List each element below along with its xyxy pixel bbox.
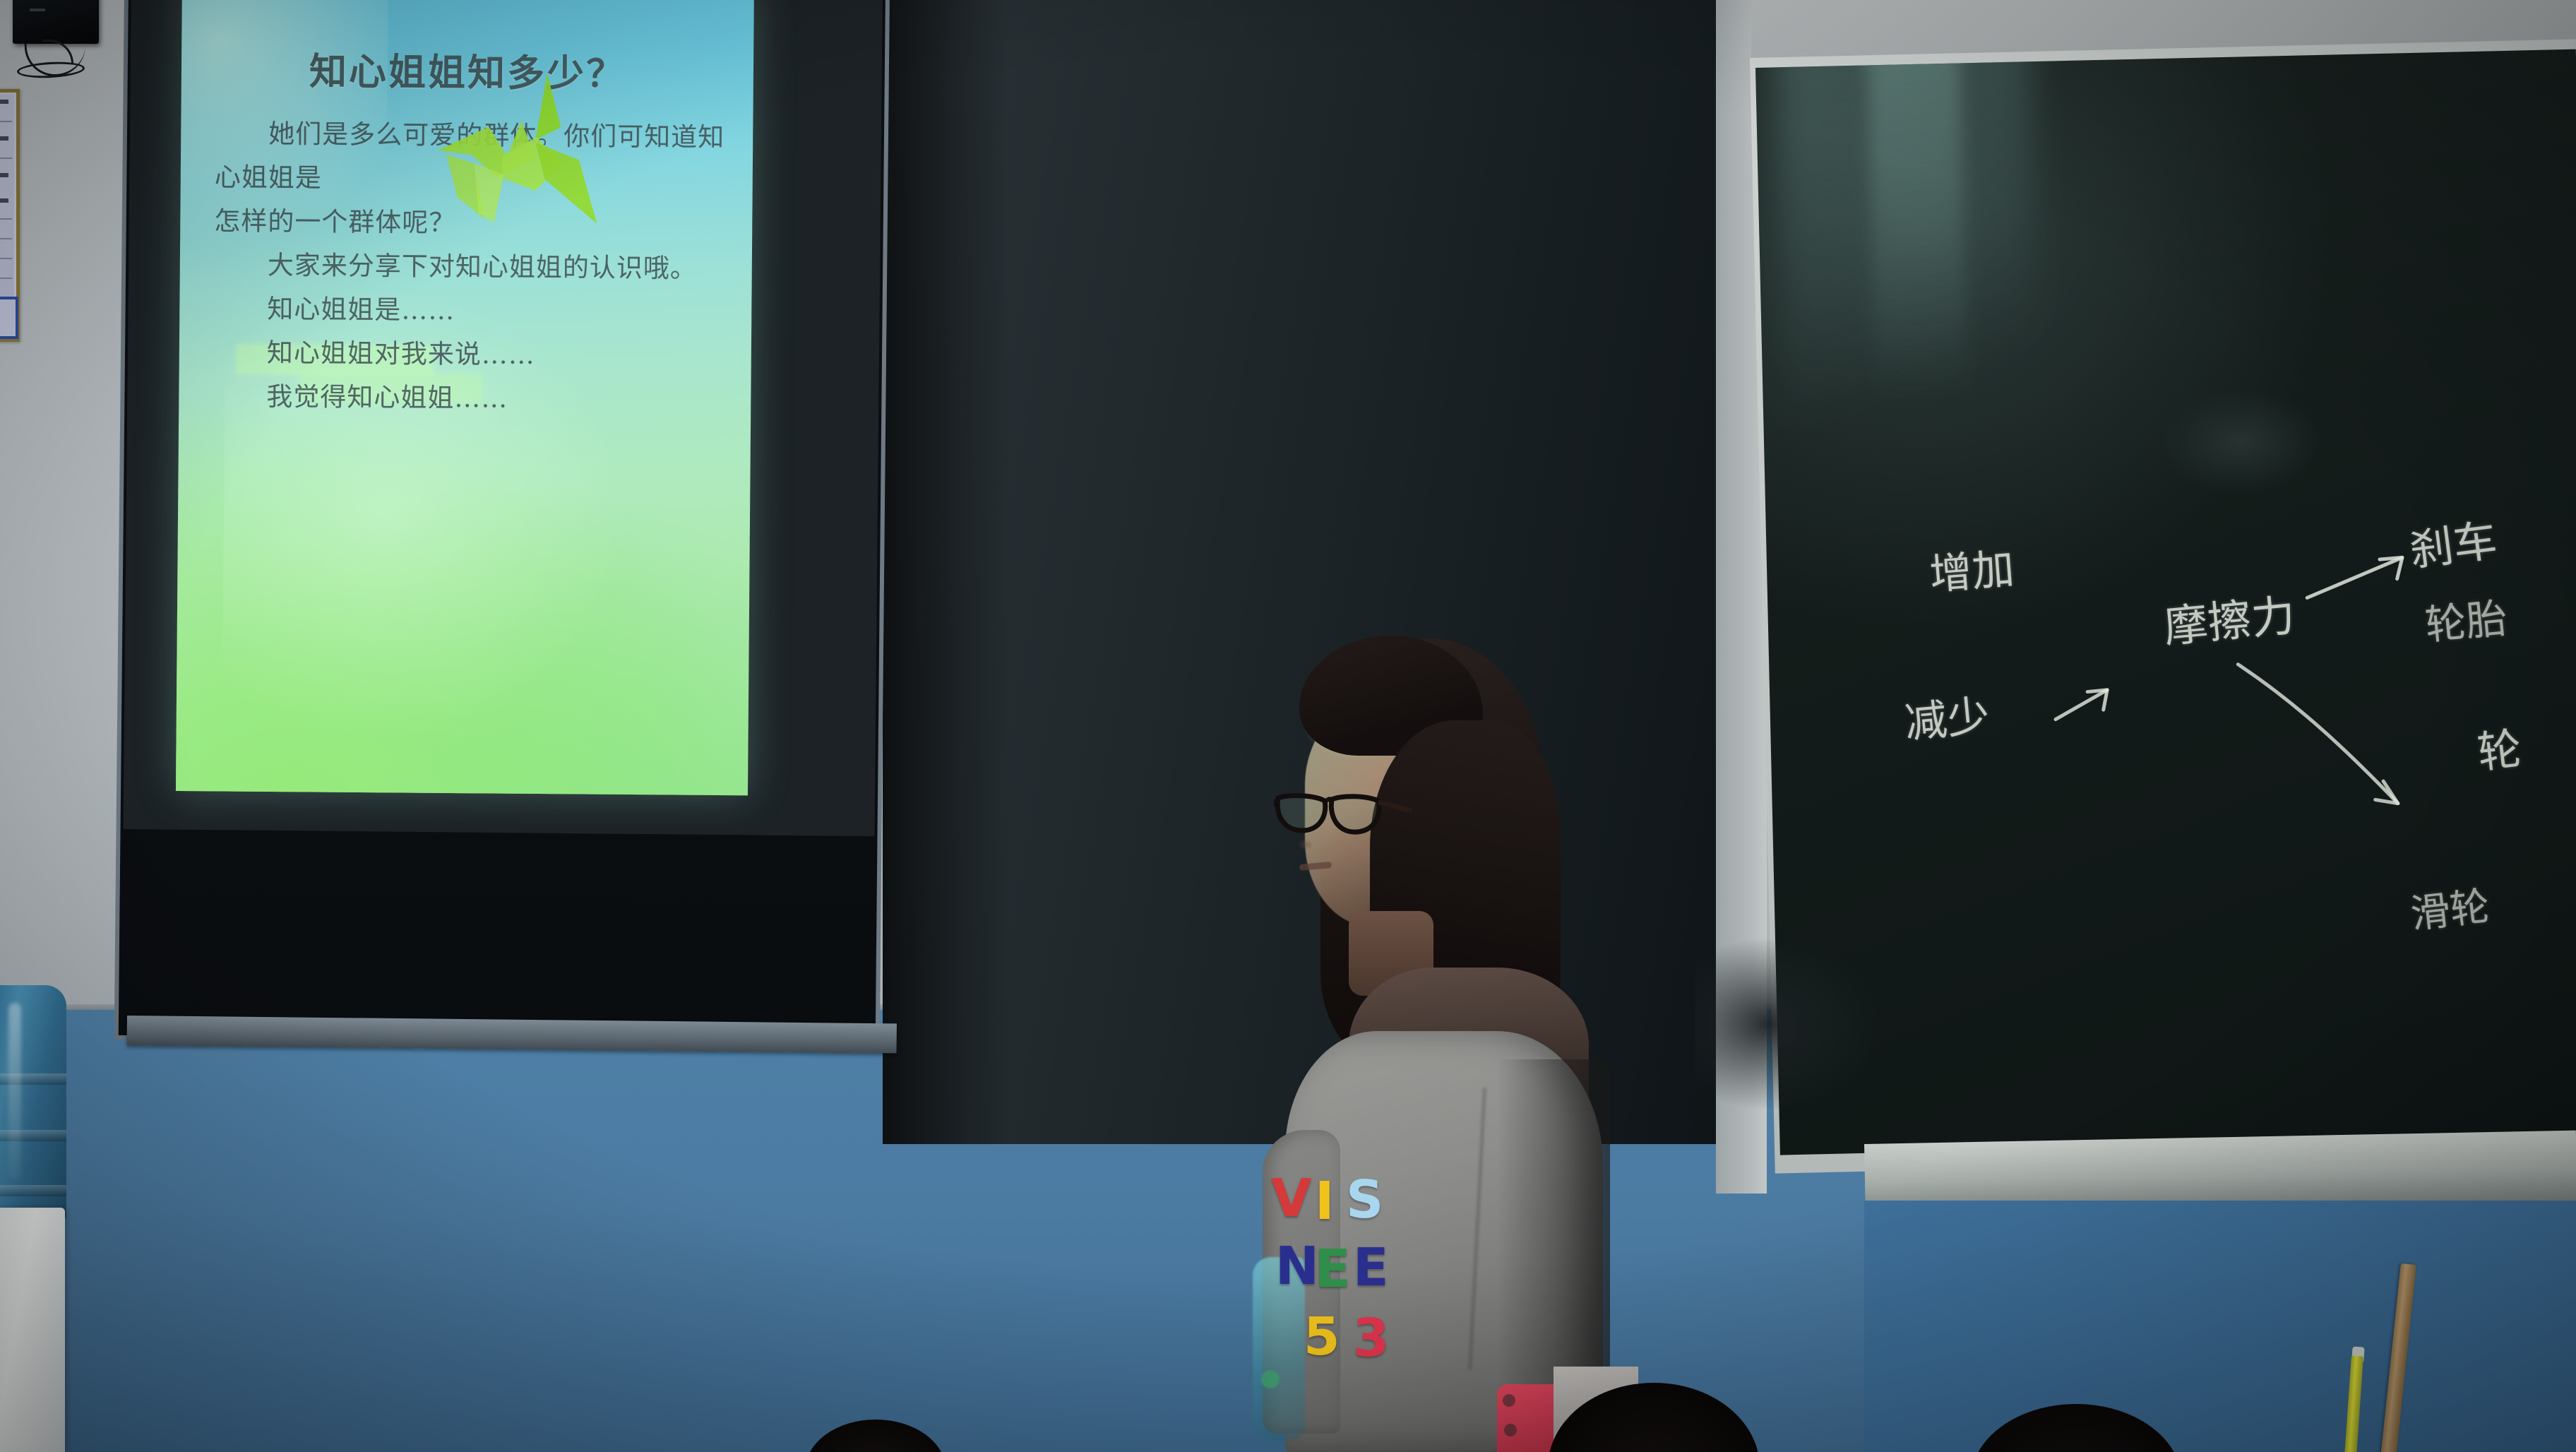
chalk-note-increase: 增加 <box>1927 535 2016 602</box>
notice-blue-panel <box>0 297 18 339</box>
hoodie-letter: E <box>1315 1243 1351 1295</box>
recess-shadow <box>883 0 1010 1144</box>
notice-text-line <box>0 258 12 259</box>
hoodie-letter: 3 <box>1353 1312 1390 1364</box>
chalk-note-tyre: 轮胎 <box>2422 585 2509 651</box>
jacket-dot <box>1503 1394 1515 1407</box>
slide-line: 知心姐姐是…… <box>213 287 739 335</box>
speaker-brand-label <box>30 8 45 11</box>
notice-text-line <box>0 157 12 159</box>
slide-body: 她们是多么可爱的群体。你们可知道知心姐姐是 怎样的一个群体呢？ 大家来分享下对知… <box>213 112 740 422</box>
notice-text-line <box>0 121 12 122</box>
notice-text-line <box>0 238 12 239</box>
student-nose <box>1298 839 1312 850</box>
chalk-arrow-right-small <box>2052 679 2131 730</box>
slide-line: 我觉得知心姐姐…… <box>213 374 738 422</box>
glasses-icon <box>1274 787 1415 839</box>
chalk-note-wheel: 轮 <box>2474 713 2524 780</box>
bottle-highlight <box>8 1003 21 1179</box>
classroom-photo: 增加 摩擦力 减少 刹车 轮胎 轮 滑轮 <box>0 0 2576 1452</box>
chalk-note-decrease: 减少 <box>1902 682 1992 751</box>
hoodie-letter: V <box>1271 1172 1311 1225</box>
slide-line: 知心姐姐对我来说…… <box>213 331 739 379</box>
hoodie-print: V I S N E E 5 3 <box>1278 1172 1448 1441</box>
background-dark-blob <box>1695 939 1878 1109</box>
slide-title: 知心姐姐知多少？ <box>181 41 754 99</box>
chalk-note-friction: 摩擦力 <box>2161 580 2298 655</box>
hoodie-letter: S <box>1346 1174 1383 1226</box>
slide-line: 大家来分享下对知心姐姐的认识哦。 <box>214 243 739 291</box>
hoodie-letter: 5 <box>1304 1311 1340 1363</box>
blackboard-glare-secondary <box>1868 49 1969 489</box>
slide-line: 她们是多么可爱的群体。你们可知道知心姐姐是 <box>215 112 741 203</box>
notice-block <box>0 198 8 203</box>
lower-wall-right <box>1864 1201 2576 1452</box>
presenting-student: V I S N E E 5 3 <box>1264 636 1702 1452</box>
notice-text-line <box>0 278 12 279</box>
chalk-arrow-down-right <box>2235 653 2451 834</box>
chalk-arrow-up-right <box>2303 540 2424 607</box>
chalk-note-pulley: 滑轮 <box>2407 874 2492 940</box>
notice-block <box>0 100 8 104</box>
blackboard-smudge <box>2159 387 2323 496</box>
hoodie-letter: N <box>1275 1240 1319 1292</box>
notice-text-line <box>0 218 12 220</box>
hoodie-letter: E <box>1353 1242 1389 1294</box>
bottle-ring <box>0 1185 66 1196</box>
chalk-note-brake: 刹车 <box>2405 504 2500 578</box>
jacket-dot <box>1504 1424 1517 1436</box>
hoodie-letter: I <box>1315 1175 1335 1227</box>
notice-block <box>0 136 8 141</box>
projected-slide: 知心姐姐知多少？ 她们是多么可爱的群体。你们可知道知心姐姐是 怎样的一个群体呢？… <box>176 0 754 795</box>
water-cooler-base <box>0 1208 65 1452</box>
slide-line: 怎样的一个群体呢？ <box>214 199 739 247</box>
blackboard: 增加 摩擦力 减少 刹车 轮胎 轮 滑轮 <box>1755 49 2576 1155</box>
wall-speaker <box>13 0 99 44</box>
hoodie-side-dot <box>1261 1370 1280 1388</box>
notice-block <box>0 173 8 177</box>
